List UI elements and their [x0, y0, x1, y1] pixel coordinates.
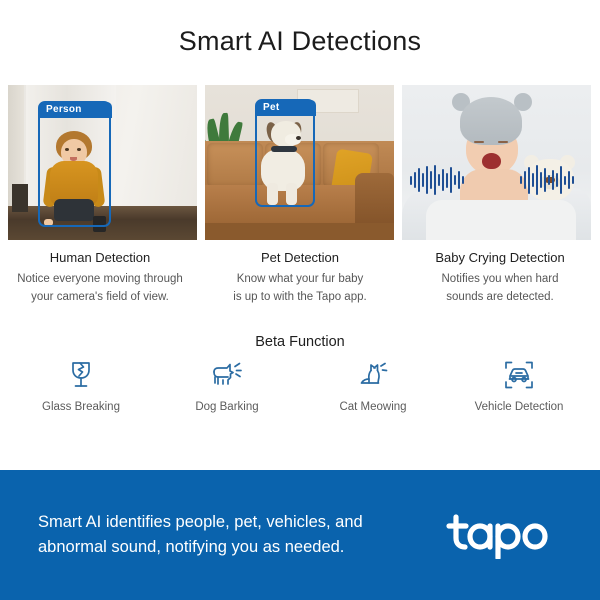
footer-banner: Smart AI identifies people, pet, vehicle… [0, 470, 600, 600]
detection-image-baby [402, 85, 591, 240]
person-bounding-box: Person [38, 101, 111, 227]
beta-item-vehicle-detection[interactable]: Vehicle Detection [446, 358, 592, 413]
person-badge-label: Person [39, 102, 112, 118]
beta-item-label: Vehicle Detection [475, 401, 564, 413]
sound-waveform-right [520, 165, 574, 195]
caption-baby: Baby Crying Detection Notifies you when … [400, 250, 600, 307]
detection-captions: Human Detection Notice everyone moving t… [0, 250, 600, 307]
cat-meowing-icon [356, 358, 390, 392]
beta-item-cat-meowing[interactable]: Cat Meowing [300, 358, 446, 413]
tapo-logo [446, 511, 564, 559]
beta-function-list: Glass Breaking Dog Barking [8, 358, 592, 413]
floor-object [12, 184, 28, 212]
caption-human: Human Detection Notice everyone moving t… [0, 250, 200, 307]
beta-item-label: Dog Barking [195, 401, 258, 413]
caption-desc-line1: Notice everyone moving through [0, 271, 200, 289]
footer-message: Smart AI identifies people, pet, vehicle… [38, 510, 363, 560]
vehicle-detection-icon [502, 358, 536, 392]
caption-desc-line1: Notifies you when hard [400, 271, 600, 289]
caption-desc-line2: sounds are detected. [400, 289, 600, 307]
beta-item-dog-barking[interactable]: Dog Barking [154, 358, 300, 413]
blanket [426, 200, 576, 240]
sound-waveform-left [410, 165, 464, 195]
dog-barking-icon [210, 358, 244, 392]
beta-function-heading: Beta Function [0, 334, 600, 350]
caption-desc-line1: Know what your fur baby [200, 271, 400, 289]
detection-image-pet: Pet [205, 85, 394, 240]
caption-title: Human Detection [0, 250, 200, 265]
pet-badge-label: Pet [256, 100, 316, 116]
caption-title: Pet Detection [200, 250, 400, 265]
beta-item-glass-breaking[interactable]: Glass Breaking [8, 358, 154, 413]
caption-desc-line2: is up to with the Tapo app. [200, 289, 400, 307]
caption-title: Baby Crying Detection [400, 250, 600, 265]
baby-chest [460, 169, 528, 201]
pet-bounding-box: Pet [255, 99, 315, 207]
broken-glass-icon [64, 358, 98, 392]
beta-item-label: Glass Breaking [42, 401, 120, 413]
beta-item-label: Cat Meowing [339, 401, 406, 413]
couch-base [205, 223, 394, 240]
detection-panels: Person [8, 85, 592, 240]
footer-line-2: abnormal sound, notifying you as needed. [38, 535, 363, 560]
couch-armrest [355, 173, 394, 225]
infographic-page: Smart AI Detections [0, 0, 600, 600]
baby-open-mouth [482, 153, 501, 169]
detection-image-human: Person [8, 85, 197, 240]
footer-line-1: Smart AI identifies people, pet, vehicle… [38, 510, 363, 535]
caption-desc-line2: your camera's field of view. [0, 289, 200, 307]
caption-pet: Pet Detection Know what your fur baby is… [200, 250, 400, 307]
knit-hat [460, 97, 522, 145]
baby-eye-left [474, 141, 484, 143]
baby-eye-right [498, 141, 508, 143]
page-title: Smart AI Detections [0, 26, 600, 57]
